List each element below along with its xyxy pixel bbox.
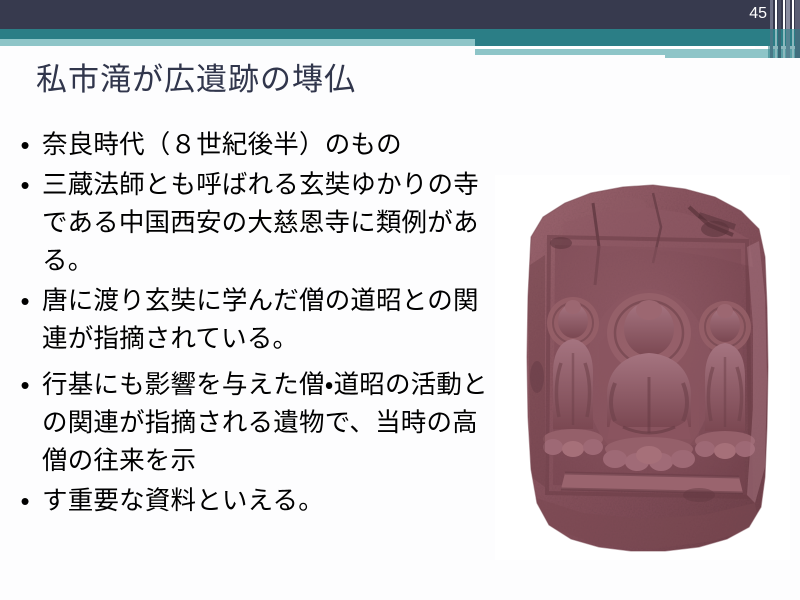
bullet-item: •行基にも影響を与えた僧・道昭の活動との関連が指摘される遺物で、当時の高僧の往来…: [8, 366, 490, 480]
decor-vertical-stripes: [768, 0, 800, 58]
bullet-text: 唐に渡り玄奘に学んだ僧の道昭との関連が指摘されている。: [42, 282, 490, 358]
bullet-item: •唐に渡り玄奘に学んだ僧の道昭との関連が指摘されている。: [8, 282, 490, 358]
bullet-marker-icon: •: [8, 282, 42, 320]
decor-white-rule-bottom: [475, 55, 665, 58]
decor-stripe-teal-tint: [768, 29, 800, 58]
bullet-item: •三蔵法師とも呼ばれる玄奘ゆかりの寺である中国西安の大慈恩寺に類例がある。: [8, 166, 490, 280]
page-number: 45: [749, 1, 767, 27]
bullet-marker-icon: •: [8, 126, 42, 164]
slide: 45 私市滝が広遺跡の塼仏 •奈良時代（８世紀後半）のもの•三蔵法師とも呼ばれる…: [0, 0, 800, 600]
bullet-item: •す重要な資料といえる。: [8, 482, 490, 520]
header-navy-band: [0, 0, 800, 29]
decor-teal-bar: [475, 30, 800, 46]
bullet-marker-icon: •: [8, 166, 42, 204]
slide-title: 私市滝が広遺跡の塼仏: [36, 59, 356, 101]
bullet-text: 奈良時代（８世紀後半）のもの: [42, 126, 490, 164]
bullet-item: •奈良時代（８世紀後半）のもの: [8, 126, 490, 164]
bullet-text: す重要な資料といえる。: [42, 482, 490, 520]
bullet-list: •奈良時代（８世紀後半）のもの•三蔵法師とも呼ばれる玄奘ゆかりの寺である中国西安…: [8, 126, 490, 522]
bullet-text: 行基にも影響を与えた僧・道昭の活動との関連が指摘される遺物で、当時の高僧の往来を…: [42, 366, 490, 480]
clay-buddhist-plaque-photo: [495, 175, 790, 560]
bullet-marker-icon: •: [8, 366, 42, 404]
bullet-text: 三蔵法師とも呼ばれる玄奘ゆかりの寺である中国西安の大慈恩寺に類例がある。: [42, 166, 490, 280]
bullet-marker-icon: •: [8, 482, 42, 520]
